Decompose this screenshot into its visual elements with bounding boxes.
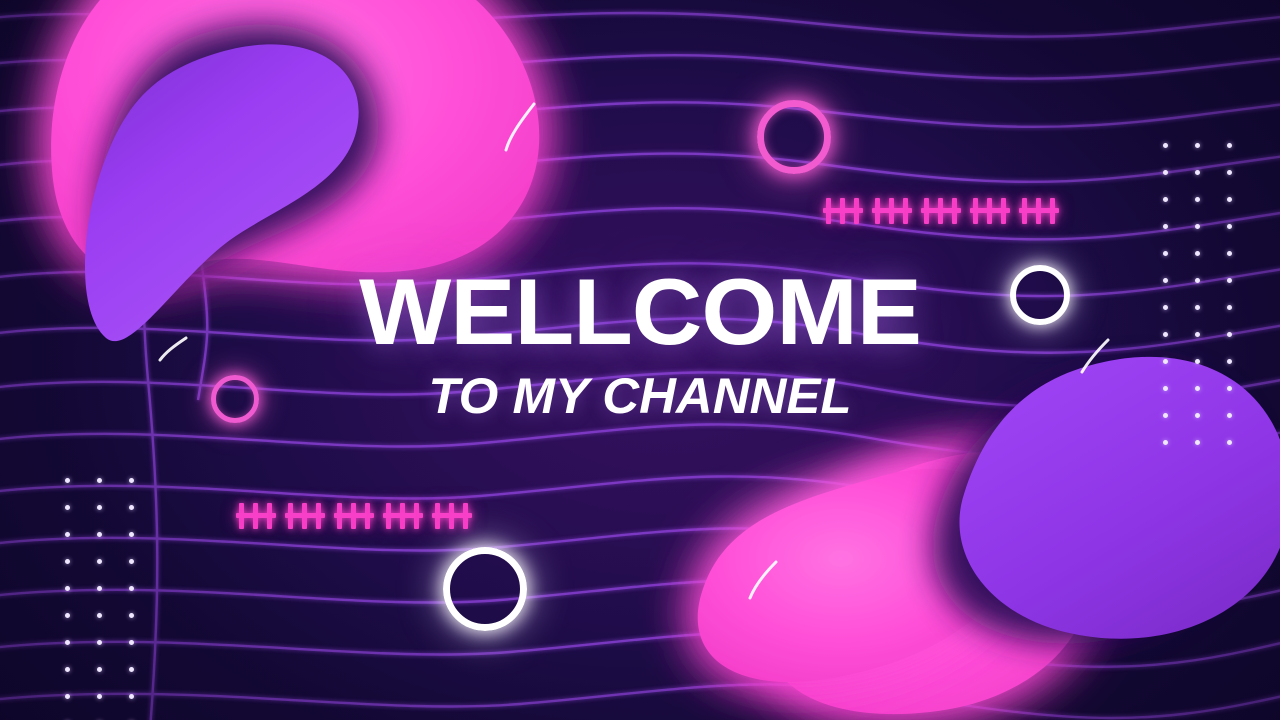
dot-grid-left [65,478,134,720]
tally-group [239,503,273,529]
page-subtitle: TO MY CHANNEL [0,371,1280,421]
tally-group [435,503,469,529]
tally-marks-top-right [826,198,1056,224]
tally-group [924,198,958,224]
page-title: WELLCOME [0,268,1280,355]
tally-group [386,503,420,529]
tally-group [1022,198,1056,224]
tally-marks-bottom-left [239,503,469,529]
tally-group [288,503,322,529]
tally-group [337,503,371,529]
ring-white-large [443,547,527,631]
arc-accent-1 [506,104,534,150]
arc-accent-4 [750,562,776,598]
tally-group [973,198,1007,224]
ring-pink-large [757,100,831,174]
tally-group [875,198,909,224]
tally-group [826,198,860,224]
welcome-banner: WELLCOME TO MY CHANNEL [0,0,1280,720]
text-block: WELLCOME TO MY CHANNEL [0,268,1280,421]
